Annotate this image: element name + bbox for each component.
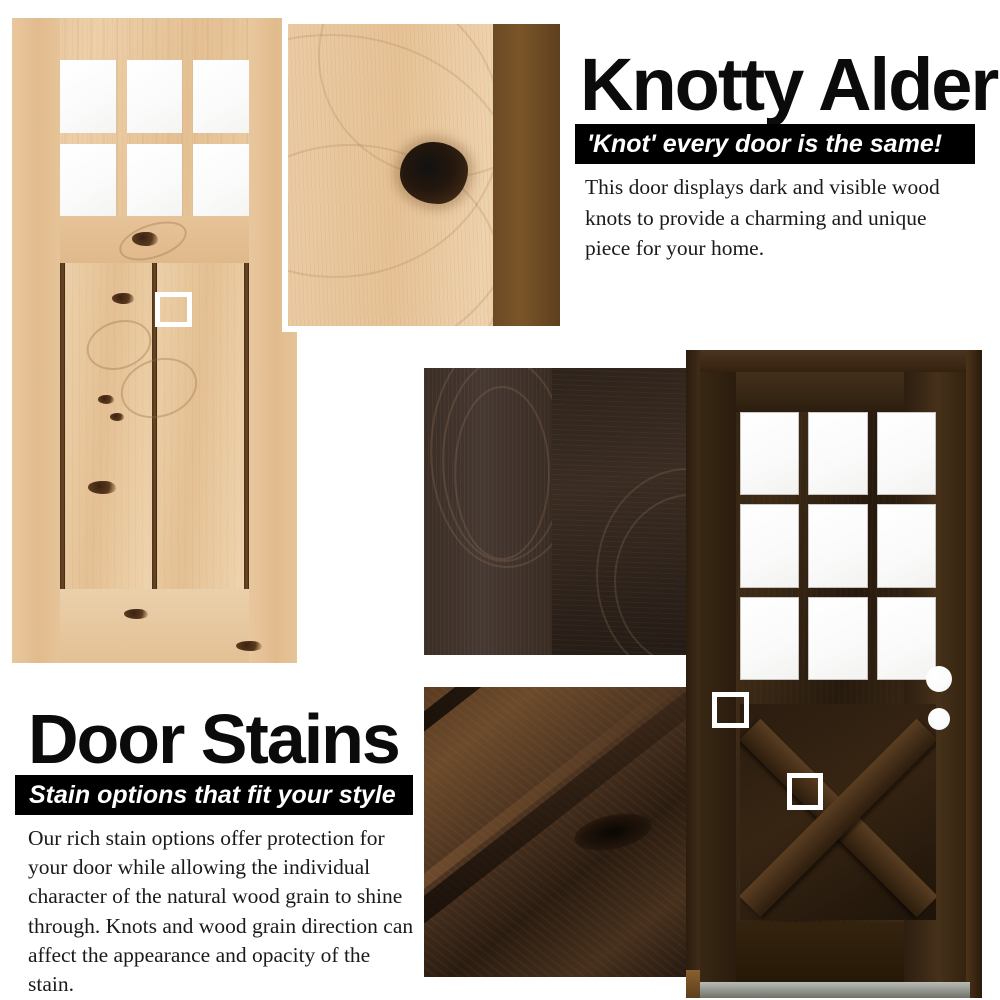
grain-arc [454,386,550,560]
knotty-alder-tagline-banner: 'Knot' every door is the same! [575,124,975,164]
door-middle-rail [60,216,249,263]
glass-pane [193,60,249,133]
door-jamb-head [686,350,982,372]
glass-pane [808,504,867,587]
threshold-end-cap [686,970,700,998]
door-knob-upper[interactable] [926,666,952,692]
dark-espresso-stain-swatch [424,368,692,655]
wood-knot [112,293,134,304]
door-panel-left [65,263,152,589]
wood-knot-detail [400,142,468,204]
grain-swirl [114,214,191,268]
stained-knotty-alder-door-image [686,350,982,998]
x-brace-panel [740,704,936,920]
door-bottom-rail [60,589,249,663]
door-bottom-rail [736,922,904,984]
glass-pane [740,597,799,680]
wood-knot [98,395,114,404]
knot-callout-light-door [155,292,192,327]
glass-pane [877,412,936,495]
door-threshold [696,982,970,998]
door-stile-left [700,372,736,984]
light-alder-door-image [12,18,297,663]
glass-pane [60,144,116,217]
glass-pane [808,412,867,495]
knot-detail-closeup-image [288,24,560,326]
glass-pane [877,504,936,587]
door-edge-stripe [493,24,560,326]
infographic-page: Knotty Alder 'Knot' every door is the sa… [0,0,1000,1000]
glass-pane [808,597,867,680]
door-deadbolt[interactable] [928,708,950,730]
glass-pane [740,412,799,495]
door-stains-tagline-banner: Stain options that fit your style [15,775,413,815]
door-stains-body-text: Our rich stain options offer protection … [28,824,420,999]
panel-groove [244,263,249,589]
grain-band [424,687,692,944]
door-jamb-right [966,350,982,998]
door-slab [700,372,966,984]
swatch-grain-left [424,368,552,655]
door-stains-heading: Door Stains [28,704,399,774]
wood-knot [571,807,654,856]
door-stile-left [12,18,60,663]
glass-pane-grid-6 [60,60,249,216]
wood-knot [124,609,148,619]
knotty-alder-body-text: This door displays dark and visible wood… [585,172,975,264]
door-jamb-left [686,350,700,998]
knot-callout-dark-door-stile [712,692,749,728]
knot-callout-dark-door-xbrace [787,773,823,810]
glass-pane [740,504,799,587]
wood-knot [88,481,116,494]
glass-pane [193,144,249,217]
wood-knot [110,413,124,421]
glass-pane [877,597,936,680]
warm-walnut-stain-swatch [424,687,692,977]
wood-knot [236,641,262,651]
glass-pane [127,144,183,217]
knotty-alder-heading: Knotty Alder [580,48,997,122]
glass-pane [127,60,183,133]
swatch-grain-right [552,368,692,655]
glass-pane-grid-9 [740,412,936,680]
glass-pane [60,60,116,133]
